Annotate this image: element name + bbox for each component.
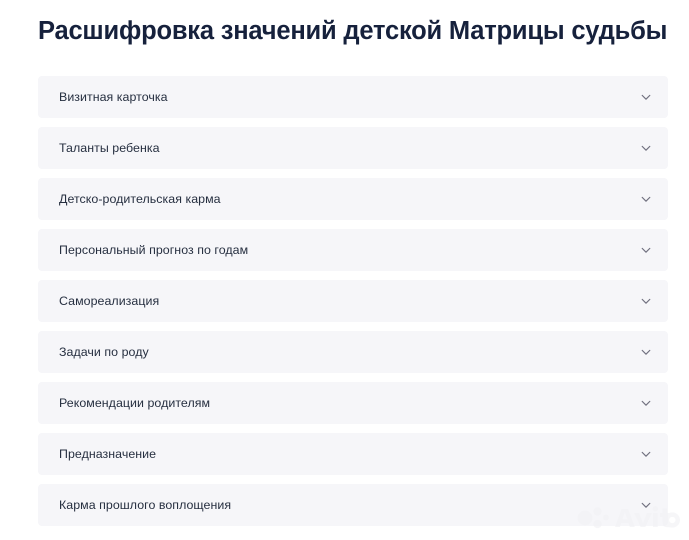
accordion-row[interactable]: Персональный прогноз по годам bbox=[38, 229, 668, 271]
chevron-down-icon[interactable] bbox=[640, 346, 652, 358]
accordion-row-label: Персональный прогноз по годам bbox=[59, 229, 248, 271]
accordion-row[interactable]: Карма прошлого воплощения bbox=[38, 484, 668, 526]
chevron-down-icon[interactable] bbox=[640, 397, 652, 409]
chevron-down-icon[interactable] bbox=[640, 91, 652, 103]
chevron-down-icon[interactable] bbox=[640, 448, 652, 460]
accordion-row-label: Рекомендации родителям bbox=[59, 382, 210, 424]
accordion-row-label: Предназначение bbox=[59, 433, 156, 475]
accordion-row[interactable]: Детско-родительская карма bbox=[38, 178, 668, 220]
accordion-row[interactable]: Визитная карточка bbox=[38, 76, 668, 118]
accordion-row[interactable]: Самореализация bbox=[38, 280, 668, 322]
page-root: Расшифровка значений детской Матрицы суд… bbox=[0, 0, 689, 540]
chevron-down-icon[interactable] bbox=[640, 295, 652, 307]
accordion-row[interactable]: Рекомендации родителям bbox=[38, 382, 668, 424]
chevron-down-icon[interactable] bbox=[640, 499, 652, 511]
chevron-down-icon[interactable] bbox=[640, 142, 652, 154]
accordion-row-label: Задачи по роду bbox=[59, 331, 149, 373]
accordion-row[interactable]: Задачи по роду bbox=[38, 331, 668, 373]
accordion-list: Визитная карточкаТаланты ребенкаДетско-р… bbox=[38, 76, 668, 535]
chevron-down-icon[interactable] bbox=[640, 244, 652, 256]
page-title: Расшифровка значений детской Матрицы суд… bbox=[38, 14, 689, 48]
accordion-row[interactable]: Предназначение bbox=[38, 433, 668, 475]
accordion-row[interactable]: Таланты ребенка bbox=[38, 127, 668, 169]
accordion-row-label: Карма прошлого воплощения bbox=[59, 484, 231, 526]
accordion-row-label: Таланты ребенка bbox=[59, 127, 160, 169]
accordion-row-label: Детско-родительская карма bbox=[59, 178, 221, 220]
chevron-down-icon[interactable] bbox=[640, 193, 652, 205]
accordion-row-label: Самореализация bbox=[59, 280, 159, 322]
accordion-row-label: Визитная карточка bbox=[59, 76, 168, 118]
